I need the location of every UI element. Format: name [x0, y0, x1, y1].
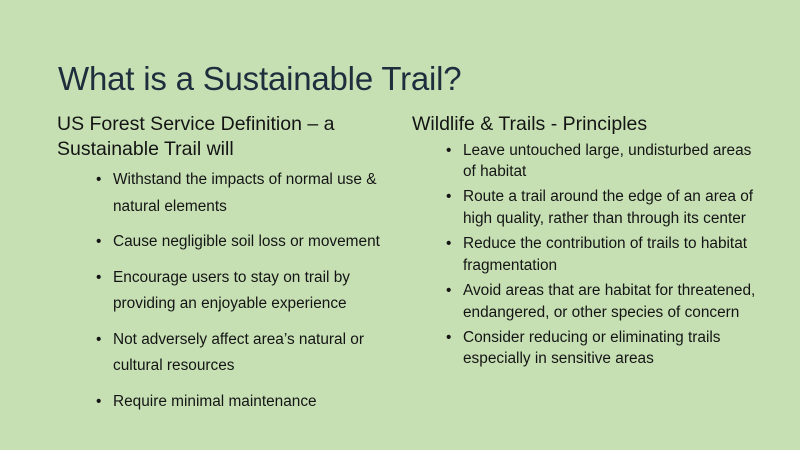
list-item-label: Route a trail around the edge of an area… — [463, 188, 753, 227]
bullet-list-right: • Leave untouched large, undisturbed are… — [440, 140, 762, 371]
bullet-dot-icon: • — [446, 186, 451, 208]
list-item-label: Require minimal maintenance — [113, 393, 317, 410]
list-item: • Withstand the impacts of normal use & … — [90, 167, 407, 220]
bullet-dot-icon: • — [446, 327, 451, 349]
list-item-label: Cause negligible soil loss or movement — [113, 233, 380, 250]
page-title: What is a Sustainable Trail? — [58, 60, 758, 99]
bullet-dot-icon: • — [96, 229, 101, 255]
list-item: • Encourage users to stay on trail by pr… — [90, 265, 407, 318]
list-item-label: Reduce the contribution of trails to hab… — [463, 235, 747, 274]
slide-canvas: What is a Sustainable Trail? US Forest S… — [0, 0, 800, 450]
column-heading-right: Wildlife & Trails - Principles — [412, 112, 762, 137]
list-item-label: Avoid areas that are habitat for threate… — [463, 282, 755, 321]
column-heading-left: US Forest Service Definition – a Sustain… — [57, 112, 407, 161]
content-column-right: Wildlife & Trails - Principles • Leave u… — [412, 112, 762, 370]
bullet-dot-icon: • — [96, 389, 101, 415]
bullet-dot-icon: • — [446, 280, 451, 302]
list-item-label: Leave untouched large, undisturbed areas… — [463, 142, 751, 181]
list-item: • Require minimal maintenance — [90, 389, 407, 415]
bullet-dot-icon: • — [446, 140, 451, 162]
content-column-left: US Forest Service Definition – a Sustain… — [57, 112, 407, 415]
list-item: • Route a trail around the edge of an ar… — [440, 186, 762, 230]
list-item: • Leave untouched large, undisturbed are… — [440, 140, 762, 184]
list-item-label: Encourage users to stay on trail by prov… — [113, 269, 350, 312]
list-item: • Cause negligible soil loss or movement — [90, 229, 407, 255]
bullet-dot-icon: • — [96, 167, 101, 193]
bullet-dot-icon: • — [446, 233, 451, 255]
list-item-label: Not adversely affect area’s natural or c… — [113, 331, 364, 374]
list-item-label: Withstand the impacts of normal use & na… — [113, 171, 376, 214]
bullet-list-left: • Withstand the impacts of normal use & … — [90, 167, 407, 415]
list-item: • Consider reducing or eliminating trail… — [440, 327, 762, 371]
bullet-dot-icon: • — [96, 327, 101, 353]
list-item: • Avoid areas that are habitat for threa… — [440, 280, 762, 324]
list-item: • Reduce the contribution of trails to h… — [440, 233, 762, 277]
bullet-dot-icon: • — [96, 265, 101, 291]
list-item-label: Consider reducing or eliminating trails … — [463, 329, 721, 368]
list-item: • Not adversely affect area’s natural or… — [90, 327, 407, 380]
